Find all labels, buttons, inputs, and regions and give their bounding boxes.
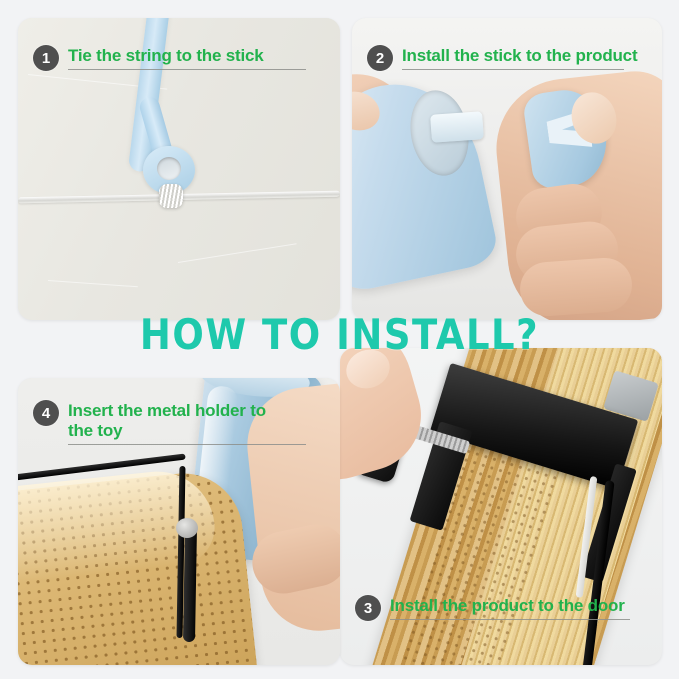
infographic-stage: 1 Tie the string to the stick 2 xyxy=(0,0,679,679)
holder-screw-head xyxy=(176,518,198,538)
step-4-caption: 4 Insert the metal holder to the toy xyxy=(33,400,306,445)
step-1-caption: 1 Tie the string to the stick xyxy=(33,45,306,71)
step-panel-2: 2 Install the stick to the product xyxy=(352,18,662,320)
step-2-caption-text: Install the stick to the product xyxy=(402,46,637,66)
step-panel-4: 4 Insert the metal holder to the toy xyxy=(18,378,340,665)
metal-holder-foot xyxy=(183,526,197,642)
step-4-badge: 4 xyxy=(33,400,59,426)
step-2-badge: 2 xyxy=(367,45,393,71)
clear-plug xyxy=(430,111,484,143)
step-1-caption-text: Tie the string to the stick xyxy=(68,46,306,66)
step-4-caption-text: Insert the metal holder to the toy xyxy=(68,401,306,441)
step-3-caption: 3 Install the product to the door xyxy=(355,595,630,621)
step-4-underline xyxy=(68,444,306,445)
stick-eyelet-hole xyxy=(157,157,181,180)
step-panel-1: 1 Tie the string to the stick xyxy=(18,18,340,320)
string-knot xyxy=(159,184,183,208)
step-2-underline xyxy=(402,69,624,70)
step-2-caption: 2 Install the stick to the product xyxy=(367,45,637,71)
step-3-caption-text: Install the product to the door xyxy=(390,596,630,616)
step-panel-3: 3 Install the product to the door xyxy=(340,348,662,665)
step-3-underline xyxy=(390,619,630,620)
step-3-badge: 3 xyxy=(355,595,381,621)
step-1-badge: 1 xyxy=(33,45,59,71)
step-1-underline xyxy=(68,69,306,70)
page-title: HOW TO INSTALL? xyxy=(0,311,679,359)
